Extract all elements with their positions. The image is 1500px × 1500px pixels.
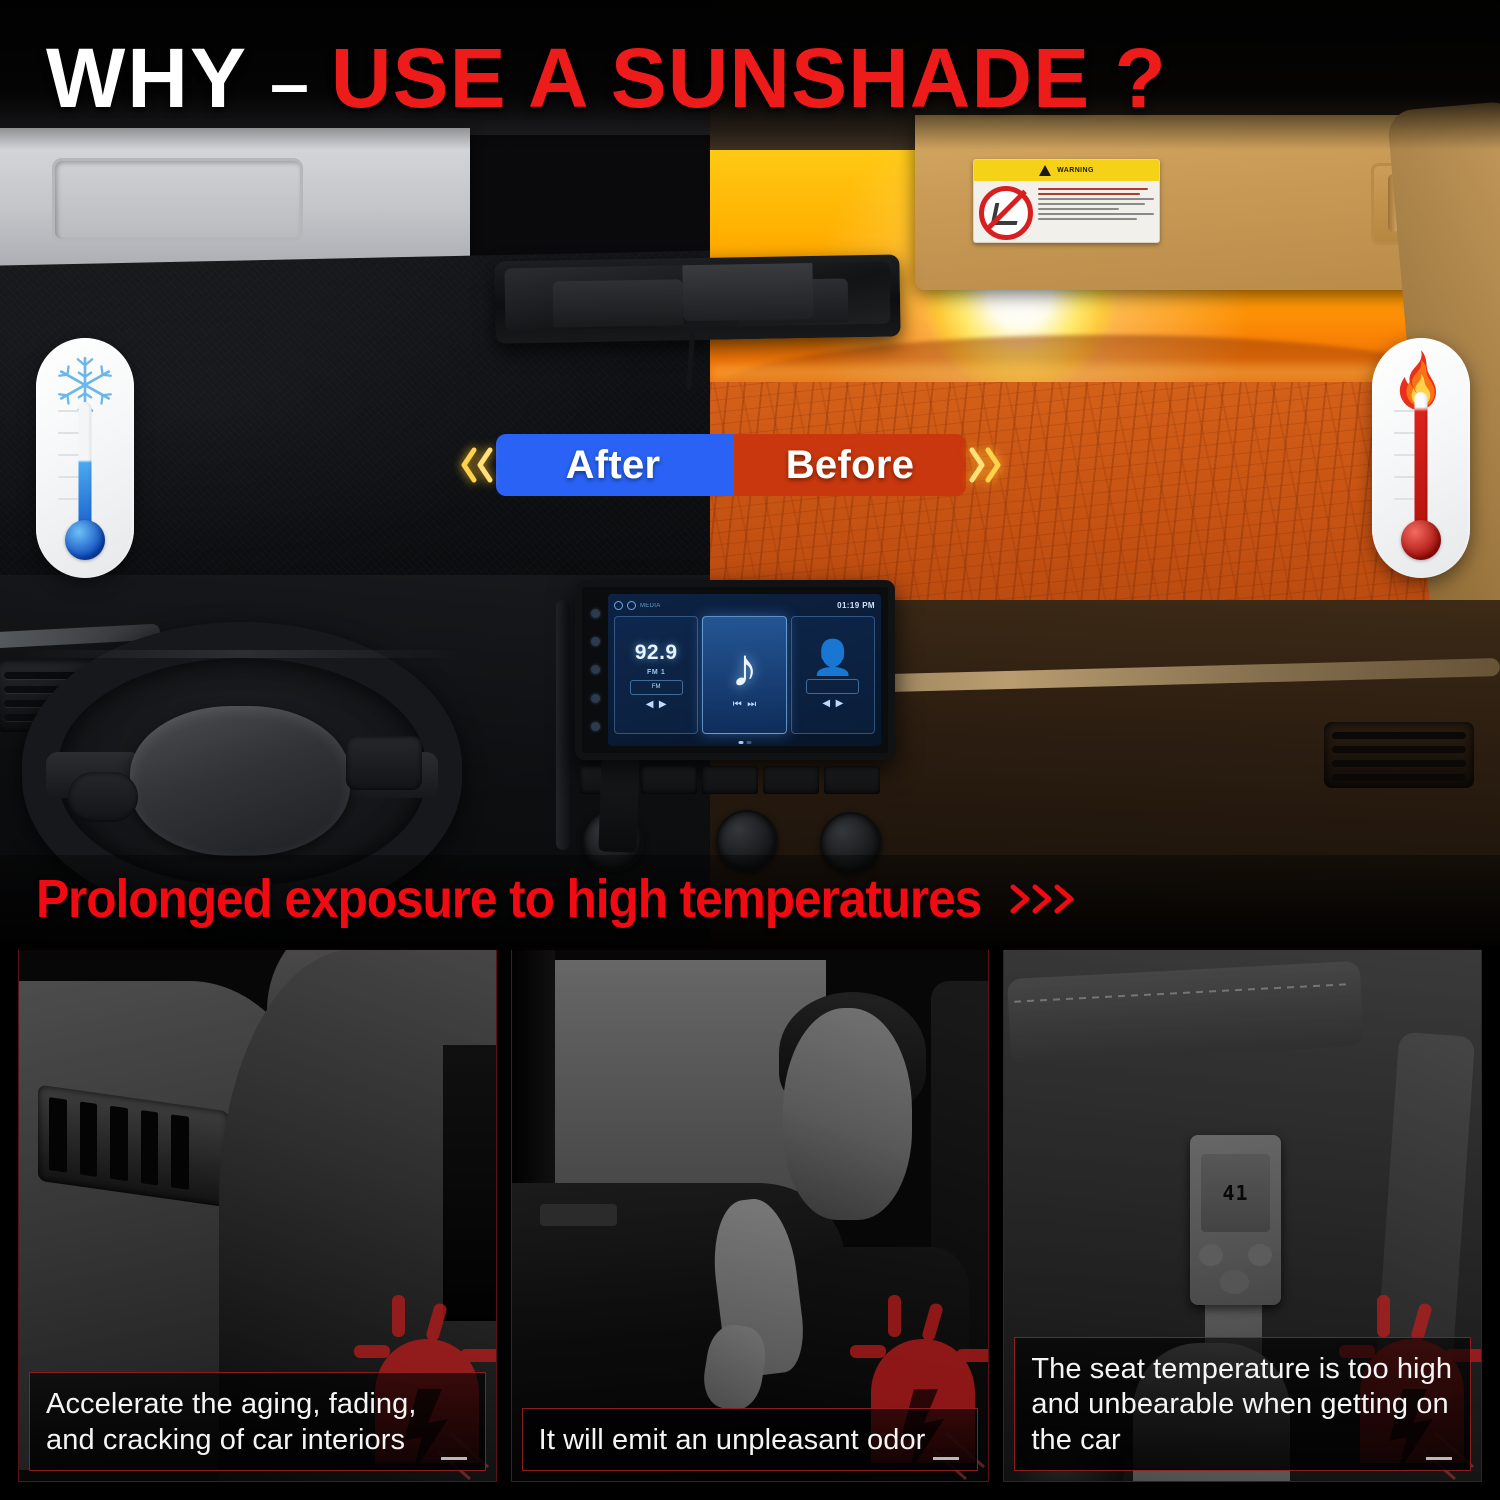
screen-stalk <box>556 600 570 850</box>
warning-label-heading: WARNING <box>1057 167 1094 174</box>
signal-icon <box>627 601 636 610</box>
source-label: MEDIA <box>640 603 661 609</box>
product-infographic: WARNING <box>0 0 1500 1500</box>
card-caption-box: The seat temperature is too high and unb… <box>1014 1337 1471 1471</box>
radio-seek-arrows[interactable]: ◀ ▶ <box>646 699 667 710</box>
card-caption: Accelerate the aging, fading, and cracki… <box>46 1387 469 1458</box>
title-dash: – <box>270 48 309 118</box>
after-badge[interactable]: After <box>496 434 734 496</box>
issue-card-aging: Accelerate the aging, fading, and cracki… <box>18 948 497 1482</box>
warning-label-text-lines <box>1038 186 1154 240</box>
headline-text: Prolonged exposure to high temperatures <box>36 868 981 930</box>
person-icon: 👤 <box>812 641 854 675</box>
preset-pill[interactable]: FM <box>630 680 683 695</box>
screen-clock: 01:19 PM <box>837 601 875 610</box>
hot-thermometer <box>1372 338 1470 578</box>
before-after-badges: After Before <box>452 434 1010 496</box>
caption-underscore <box>933 1457 959 1460</box>
music-note-icon: ♪ <box>731 641 758 695</box>
screen-side-buttons[interactable] <box>586 599 604 741</box>
headline-row: Prolonged exposure to high temperatures <box>36 868 1081 930</box>
warning-triangle-icon <box>1039 165 1051 176</box>
before-badge[interactable]: Before <box>734 434 966 496</box>
media-transport-arrows[interactable]: ⏮ ⏭ <box>733 699 757 710</box>
caption-underscore <box>441 1457 467 1460</box>
thermometer-reading: 41 <box>1222 1181 1248 1205</box>
title-red: USE A SUNSHADE ? <box>331 36 1167 120</box>
rearview-mirror <box>494 254 900 343</box>
title-white: WHY <box>46 36 248 120</box>
climate-arrows[interactable]: ◀ ▶ <box>822 698 843 709</box>
card-caption-box: Accelerate the aging, fading, and cracki… <box>29 1372 486 1471</box>
right-chevrons-icon <box>966 443 1010 487</box>
infotainment-screen: MEDIA 01:19 PM 92.9 FM 1 FM ◀ ▶ ♪ ⏮ ⏭ <box>575 580 895 760</box>
caption-underscore <box>1426 1457 1452 1460</box>
left-chevrons-icon <box>452 443 496 487</box>
card-caption: The seat temperature is too high and unb… <box>1031 1352 1454 1458</box>
screen-page-dots[interactable] <box>738 741 751 744</box>
air-vent-hot <box>1324 722 1474 788</box>
no-child-seat-icon <box>979 186 1033 240</box>
media-card[interactable]: ♪ ⏮ ⏭ <box>702 616 786 734</box>
benefit-cards: Accelerate the aging, fading, and cracki… <box>0 948 1500 1500</box>
card-photo-man-waving <box>512 949 989 1481</box>
airbag-warning-label: WARNING <box>973 159 1160 243</box>
bluetooth-icon <box>614 601 623 610</box>
sun-visor-cool <box>0 128 470 276</box>
card-caption: It will emit an unpleasant odor <box>539 1423 962 1458</box>
card-caption-box: It will emit an unpleasant odor <box>522 1408 979 1471</box>
climate-card[interactable]: 👤 ◀ ▶ <box>791 616 875 734</box>
issue-card-seat-temperature: 41 <box>1003 948 1482 1482</box>
infrared-thermometer: 41 <box>1190 1135 1281 1305</box>
steering-buttons-right <box>346 736 422 790</box>
issue-card-odor: It will emit an unpleasant odor <box>511 948 990 1482</box>
screen-mount <box>598 755 639 852</box>
seat-pill[interactable] <box>806 679 859 694</box>
radio-band: FM 1 <box>647 669 665 676</box>
headline-chevrons-icon <box>1007 879 1081 919</box>
radio-frequency: 92.9 <box>635 641 678 665</box>
page-title: WHY – USE A SUNSHADE ? <box>46 36 1167 120</box>
steering-buttons-left <box>68 772 138 822</box>
radio-card[interactable]: 92.9 FM 1 FM ◀ ▶ <box>614 616 698 734</box>
cold-thermometer <box>36 338 134 578</box>
